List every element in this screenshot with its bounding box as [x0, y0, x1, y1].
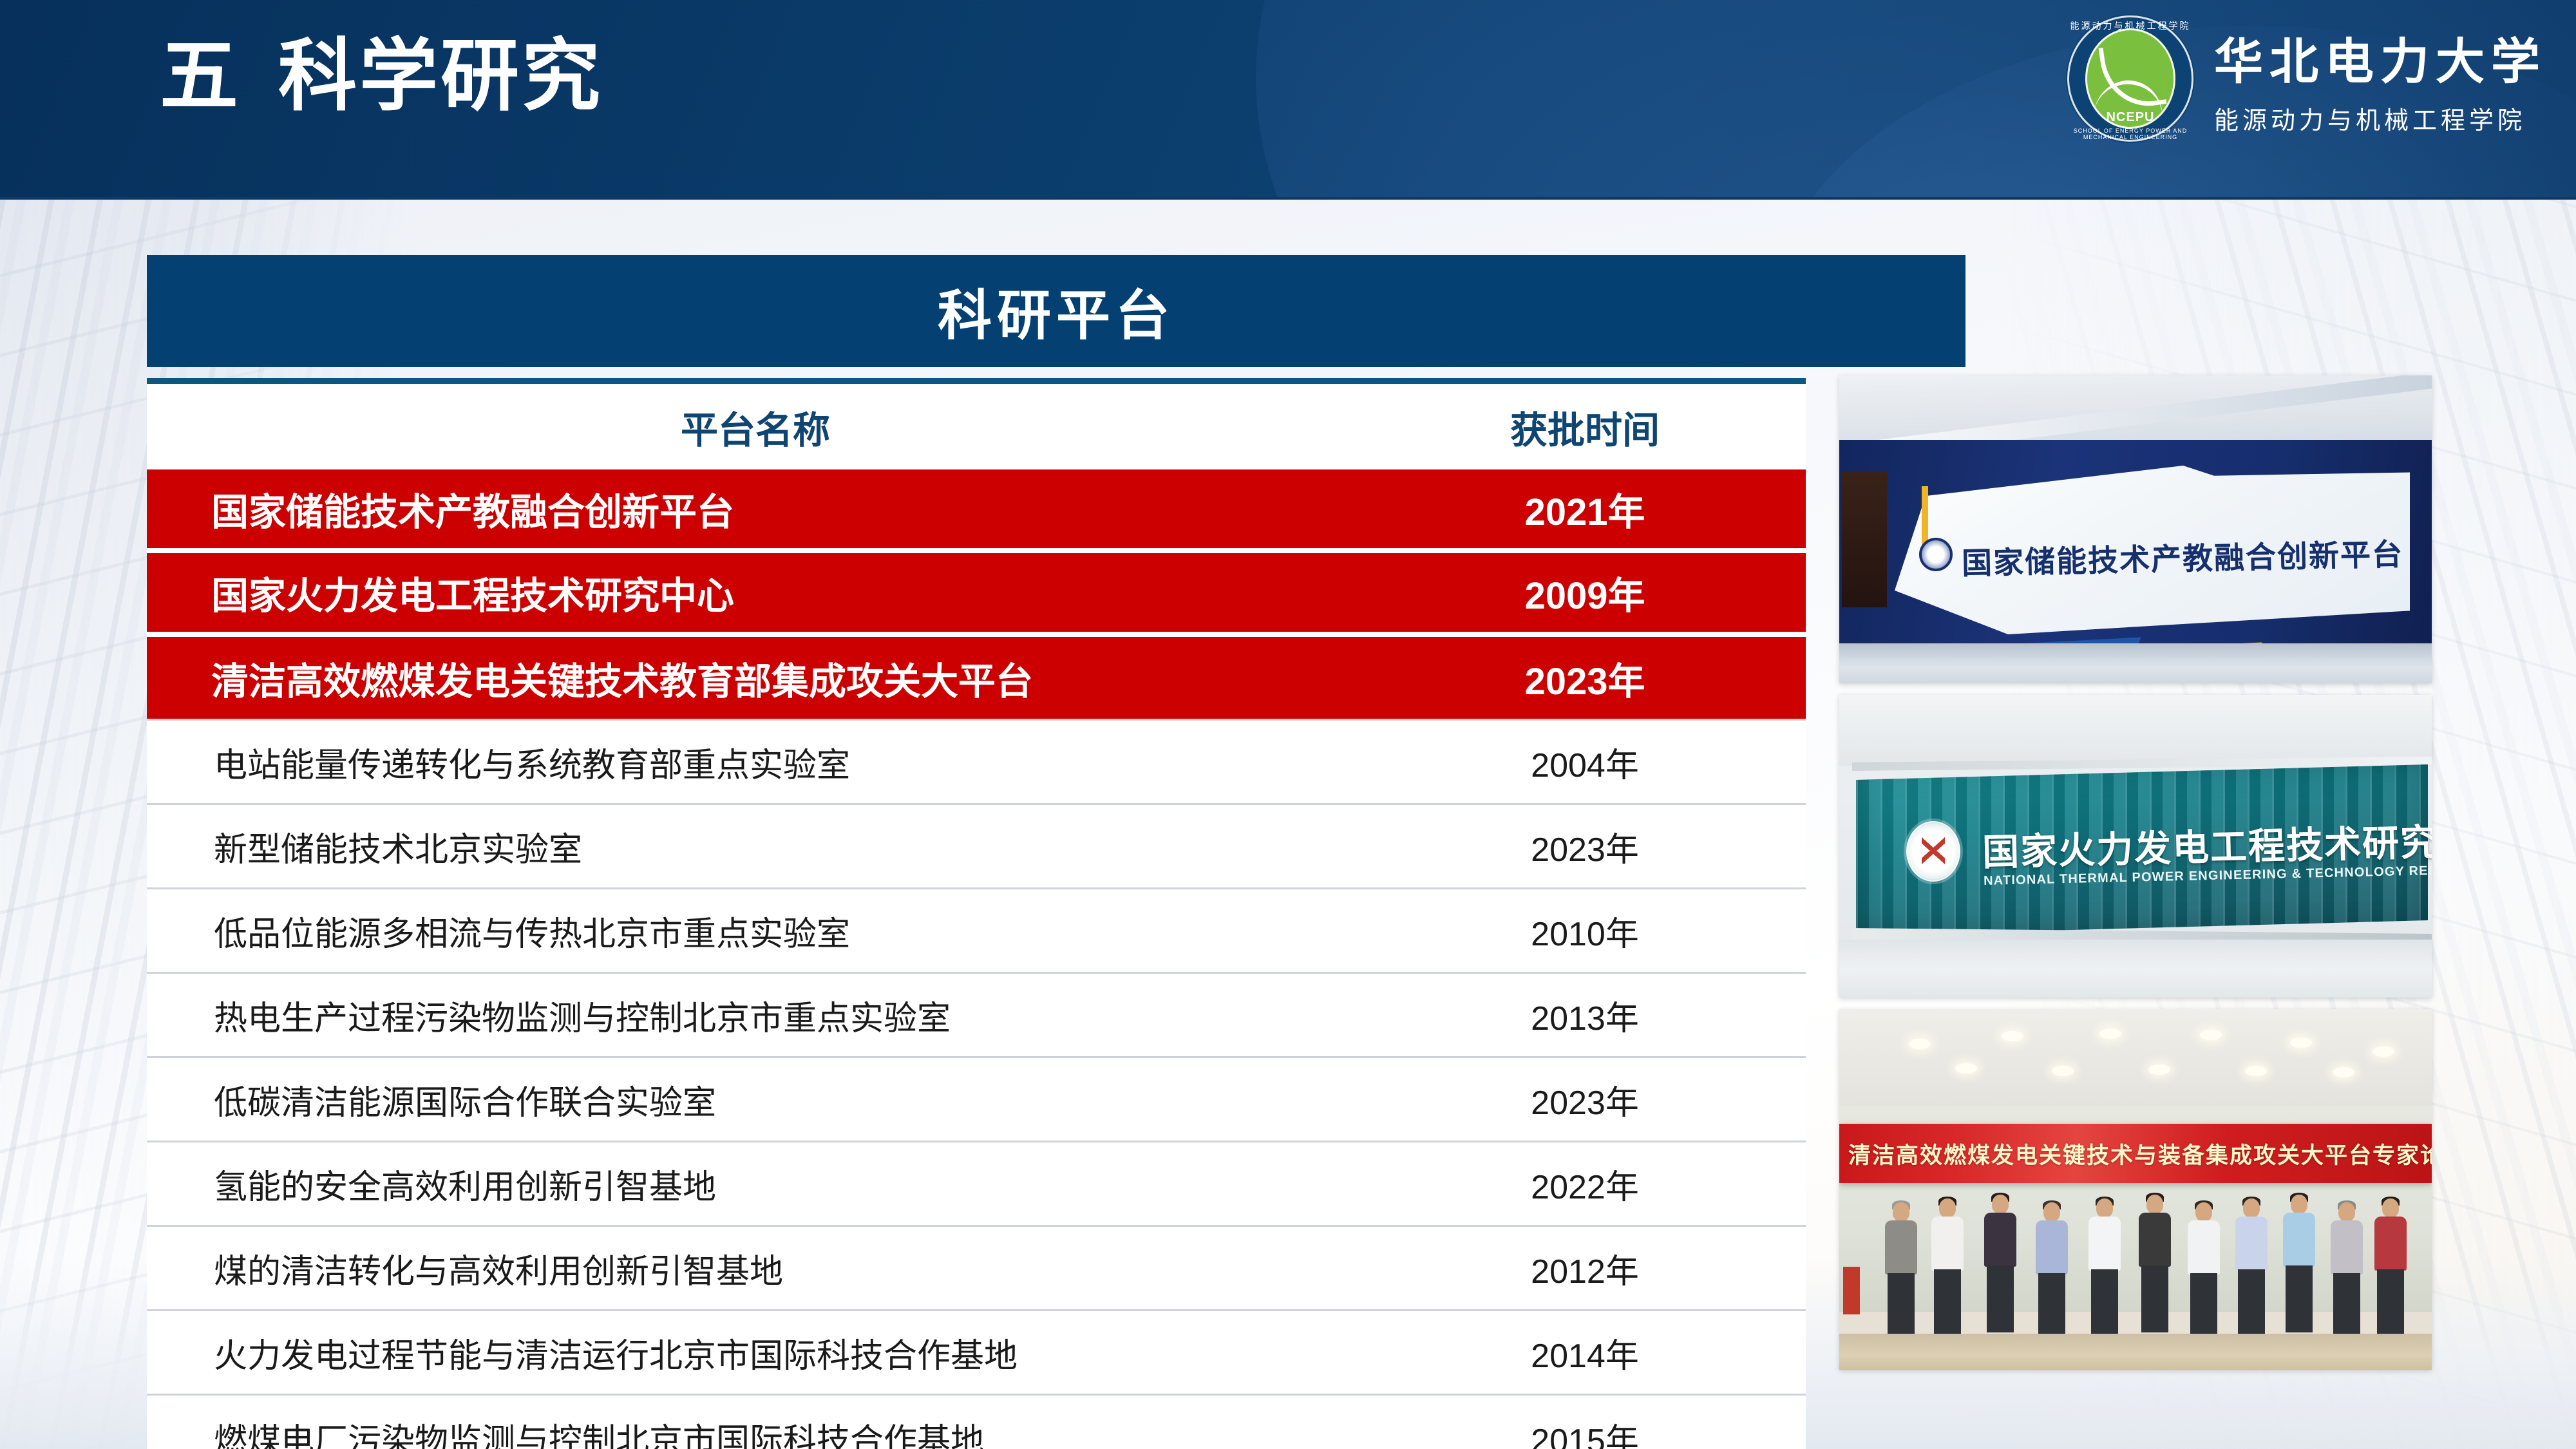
photo3-ceiling-light	[2372, 1046, 2394, 1057]
table-row: 煤的清洁转化与高效利用创新引智基地2012年	[147, 1227, 1806, 1311]
photo3-ceiling-light	[2333, 1067, 2354, 1077]
cell-approval-date: 2009年	[1364, 565, 1806, 620]
school-name: 能源动力与机械工程学院	[2214, 100, 2546, 136]
cell-platform-name: 煤的清洁转化与高效利用创新引智基地	[147, 1244, 1364, 1293]
column-header-approval-date: 获批时间	[1364, 400, 1806, 454]
cell-platform-name: 低碳清洁能源国际合作联合实验室	[147, 1075, 1364, 1124]
photo3-red-banner: 清洁高效燃煤发电关键技术与装备集成攻关大平台专家论证会	[1839, 1124, 2432, 1183]
photo1-doorway	[1842, 472, 1887, 607]
cell-approval-date: 2023年	[1364, 822, 1806, 871]
cell-approval-date: 2023年	[1364, 651, 1806, 705]
cell-platform-name: 燃煤电厂污染物监测与控制北京市国际科技合作基地	[147, 1414, 1364, 1449]
photo-thermal-power-center-sign: 国家火力发电工程技术研究中心 NATIONAL THERMAL POWER EN…	[1839, 695, 2432, 998]
brand-text-block: 华北电力大学 能源动力与机械工程学院	[2214, 22, 2546, 136]
brand-lockup: 能源动力与机械工程学院 NCEPU SCHOOL OF ENERGY POWER…	[2066, 14, 2546, 143]
photo-expert-review-group: 清洁高效燃煤发电关键技术与装备集成攻关大平台专家论证会	[1839, 1009, 2432, 1370]
table-row: 国家火力发电工程技术研究中心2009年	[147, 553, 1806, 637]
slide-canvas: 五科学研究 能源动力与机械工程学院 NCEPU SCHOOL OF ENERGY…	[0, 0, 2576, 1449]
cell-platform-name: 新型储能技术北京实验室	[147, 822, 1364, 871]
cell-platform-name: 清洁高效燃煤发电关键技术教育部集成攻关大平台	[147, 651, 1364, 705]
photo1-sign-logo-icon	[1919, 538, 1953, 571]
table-row: 国家储能技术产教融合创新平台2021年	[147, 469, 1806, 553]
university-seal-icon: 能源动力与机械工程学院 NCEPU SCHOOL OF ENERGY POWER…	[2066, 14, 2195, 143]
seal-ring-english-text: SCHOOL OF ENERGY POWER AND MECHANICAL EN…	[2066, 128, 2195, 140]
table-row: 新型储能技术北京实验室2023年	[147, 805, 1806, 889]
cell-approval-date: 2012年	[1364, 1244, 1806, 1293]
research-platform-table: 平台名称 获批时间 国家储能技术产教融合创新平台2021年国家火力发电工程技术研…	[147, 378, 1806, 1449]
panel-title-bar: 科研平台	[147, 255, 1965, 367]
slide-header: 五科学研究 能源动力与机械工程学院 NCEPU SCHOOL OF ENERGY…	[0, 0, 2576, 200]
table-row: 低碳清洁能源国际合作联合实验室2023年	[147, 1058, 1806, 1142]
cell-platform-name: 热电生产过程污染物监测与控制北京市重点实验室	[147, 991, 1364, 1039]
page-title: 五科学研究	[160, 31, 603, 121]
cell-platform-name: 低品位能源多相流与传热北京市重点实验室	[147, 907, 1364, 955]
table-row: 清洁高效燃煤发电关键技术教育部集成攻关大平台2023年	[147, 637, 1806, 721]
photo3-ceiling-light	[2002, 1031, 2023, 1041]
table-row: 热电生产过程污染物监测与控制北京市重点实验室2013年	[147, 974, 1806, 1058]
photo2-center-emblem-icon	[1906, 821, 1960, 882]
table-row: 低品位能源多相流与传热北京市重点实验室2010年	[147, 889, 1806, 974]
cell-approval-date: 2010年	[1364, 907, 1806, 955]
panel-title-label: 科研平台	[938, 272, 1175, 350]
table-row: 氢能的安全高效利用创新引智基地2022年	[147, 1142, 1806, 1227]
photo3-ceiling-light	[2200, 1030, 2222, 1040]
photo3-ceiling-light	[2052, 1066, 2074, 1076]
cell-approval-date: 2013年	[1364, 991, 1806, 1039]
cell-approval-date: 2021年	[1364, 482, 1806, 536]
column-header-platform-name: 平台名称	[147, 400, 1364, 454]
photo3-ceiling-light	[1955, 1063, 1977, 1074]
cell-platform-name: 火力发电过程节能与清洁运行北京市国际科技合作基地	[147, 1329, 1364, 1377]
cell-approval-date: 2014年	[1364, 1329, 1806, 1377]
photo2-floor	[1839, 940, 2432, 998]
photo2-ceiling	[1839, 695, 2432, 766]
photo-storage-platform-lobby: 国家储能技术产教融合创新平台	[1839, 375, 2432, 683]
photo3-ceiling-light	[2290, 1037, 2312, 1048]
seal-abbreviation: NCEPU	[2066, 110, 2195, 125]
university-name: 华北电力大学	[2214, 22, 2546, 93]
section-title: 科学研究	[278, 32, 603, 120]
photo3-ceiling-light	[2148, 1065, 2170, 1075]
photo3-banner-text: 清洁高效燃煤发电关键技术与装备集成攻关大平台专家论证会	[1848, 1137, 2432, 1170]
table-row: 燃煤电厂污染物监测与控制北京市国际科技合作基地2015年	[147, 1396, 1806, 1449]
photo-column: 国家储能技术产教融合创新平台 国家火力发电工程技术研究中心 NATIONAL T…	[1839, 375, 2432, 1370]
photo3-people-group	[1839, 1187, 2432, 1340]
table-row: 电站能量传递转化与系统教育部重点实验室2004年	[147, 721, 1806, 805]
cell-approval-date: 2023年	[1364, 1075, 1806, 1124]
cell-platform-name: 国家储能技术产教融合创新平台	[147, 482, 1364, 536]
photo3-ceiling-light	[1909, 1039, 1931, 1049]
cell-approval-date: 2004年	[1364, 738, 1806, 786]
photo3-ceiling-light	[2245, 1066, 2267, 1076]
photo3-ceiling-light	[2099, 1028, 2121, 1039]
table-header-row: 平台名称 获批时间	[147, 384, 1806, 469]
header-bottom-rule	[0, 197, 2576, 200]
cell-approval-date: 2015年	[1364, 1414, 1806, 1449]
photo1-floor	[1839, 643, 2432, 683]
cell-approval-date: 2022年	[1364, 1160, 1806, 1208]
section-number: 五	[160, 32, 241, 120]
cell-platform-name: 电站能量传递转化与系统教育部重点实验室	[147, 738, 1364, 786]
photo1-sign-text: 国家储能技术产教融合创新平台	[1961, 529, 2403, 583]
photo3-ceiling-lights	[1839, 1027, 2432, 1079]
table-row: 火力发电过程节能与清洁运行北京市国际科技合作基地2014年	[147, 1311, 1806, 1396]
cell-platform-name: 国家火力发电工程技术研究中心	[147, 565, 1364, 620]
photo3-floor	[1839, 1334, 2432, 1370]
cell-platform-name: 氢能的安全高效利用创新引智基地	[147, 1160, 1364, 1208]
